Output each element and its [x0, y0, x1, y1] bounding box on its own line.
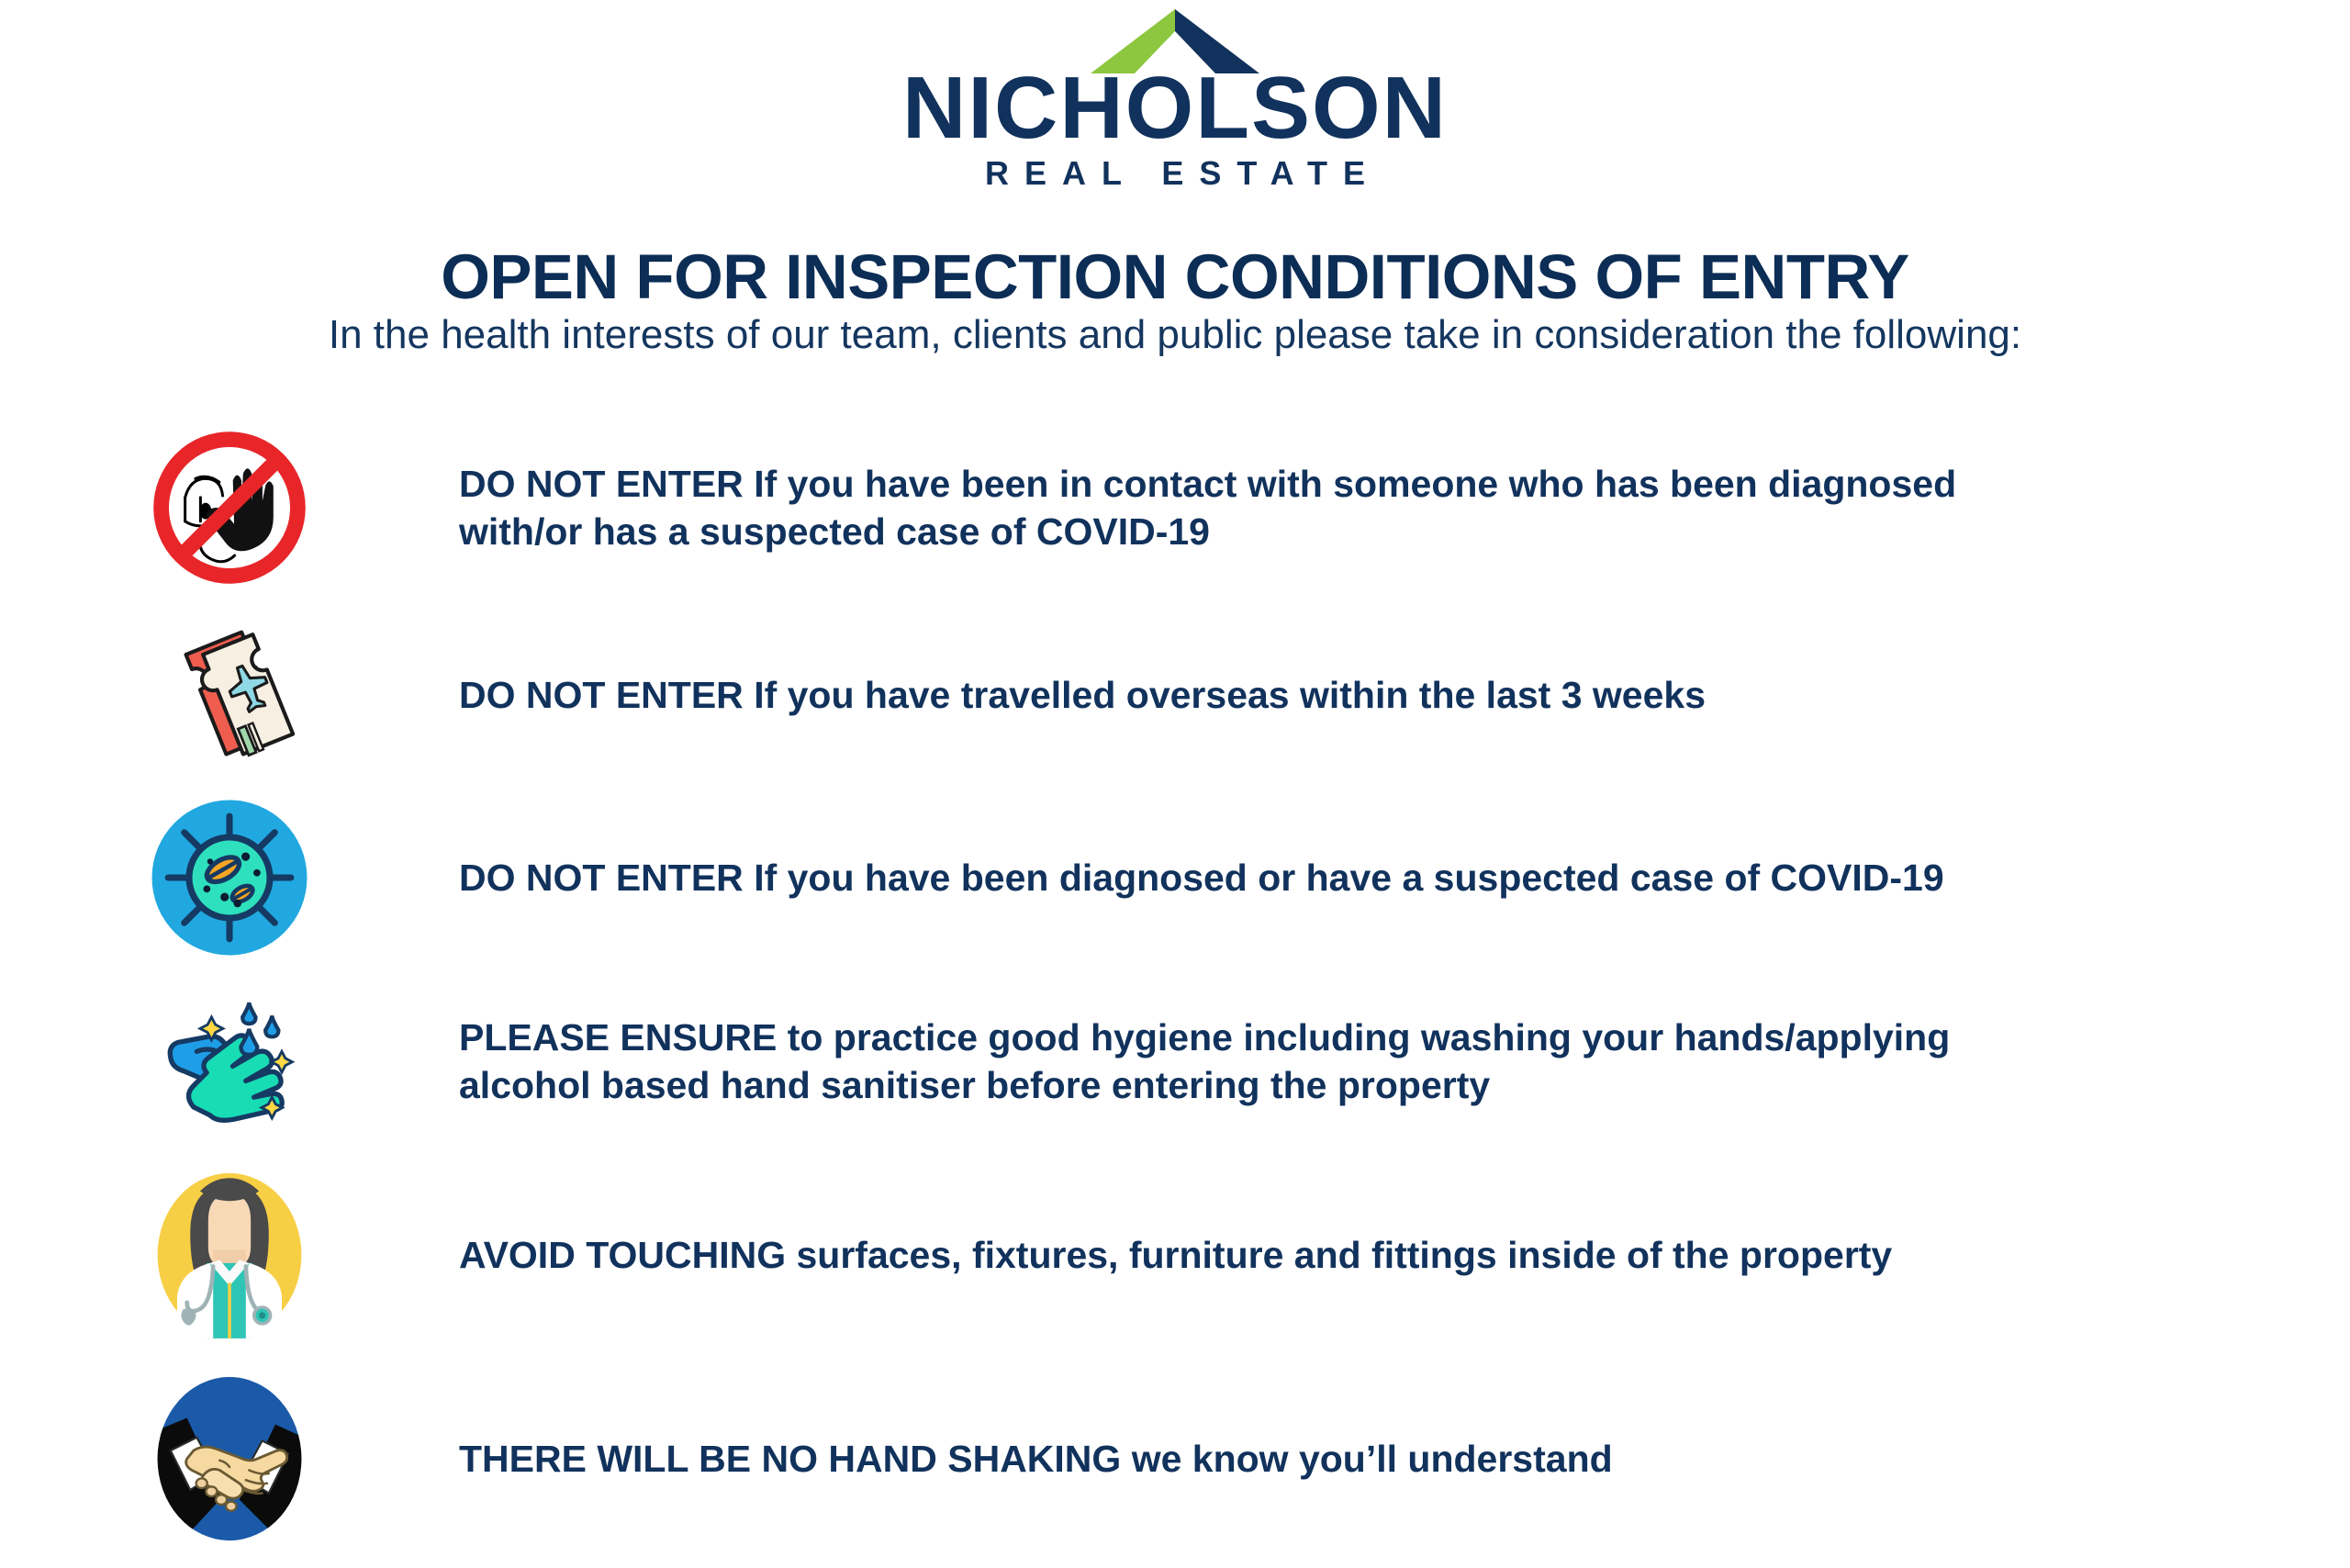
condition-row: DO NOT ENTER If you have travelled overs… — [0, 604, 2350, 786]
condition-icon-cell — [0, 969, 459, 1153]
condition-row: DO NOT ENTER If you have been in contact… — [0, 411, 2350, 604]
condition-text: DO NOT ENTER If you have been in contact… — [459, 460, 2001, 556]
brand-name: NICHOLSON — [902, 68, 1448, 149]
condition-icon-cell — [0, 1153, 459, 1357]
condition-icon-cell — [0, 1357, 459, 1561]
condition-row: THERE WILL BE NO HAND SHAKING we know yo… — [0, 1357, 2350, 1561]
condition-lead: DO NOT ENTER — [459, 857, 744, 899]
condition-row: AVOID TOUCHING surfaces, fixtures, furni… — [0, 1153, 2350, 1357]
poster-page: NICHOLSON REAL ESTATE OPEN FOR INSPECTIO… — [0, 0, 2350, 1568]
condition-text: PLEASE ENSURE to practice good hygiene i… — [459, 1014, 2001, 1110]
page-title: OPEN FOR INSPECTION CONDITIONS OF ENTRY — [0, 241, 2350, 313]
no-entry-hand-icon — [144, 422, 315, 593]
airline-tickets-icon — [151, 616, 308, 774]
conditions-list: DO NOT ENTER If you have been in contact… — [0, 411, 2350, 1561]
page-subtitle: In the health interests of our team, cli… — [0, 312, 2350, 358]
condition-rest: surfaces, fixtures, furniture and fittin… — [786, 1234, 1892, 1276]
virus-icon — [149, 797, 310, 958]
doctor-icon — [147, 1165, 312, 1345]
condition-text: AVOID TOUCHING surfaces, fixtures, furni… — [459, 1231, 1892, 1279]
condition-lead: PLEASE ENSURE — [459, 1016, 777, 1058]
condition-icon-cell — [0, 786, 459, 969]
condition-text: DO NOT ENTER If you have travelled overs… — [459, 671, 1706, 719]
condition-icon-cell — [0, 411, 459, 604]
hand-washing-icon — [148, 980, 311, 1143]
condition-rest: If you have been diagnosed or have a sus… — [744, 857, 1944, 899]
handshake-icon — [147, 1369, 312, 1549]
brand-logo: NICHOLSON REAL ESTATE — [0, 7, 2350, 193]
condition-rest: If you have travelled overseas within th… — [744, 674, 1706, 716]
condition-lead: THERE WILL BE NO HAND SHAKING — [459, 1438, 1121, 1480]
condition-rest: we know you’ll understand — [1121, 1438, 1612, 1480]
condition-row: PLEASE ENSURE to practice good hygiene i… — [0, 969, 2350, 1153]
brand-tagline: REAL ESTATE — [969, 154, 1381, 193]
condition-text: THERE WILL BE NO HAND SHAKING we know yo… — [459, 1435, 1613, 1483]
condition-lead: DO NOT ENTER — [459, 674, 744, 716]
condition-text: DO NOT ENTER If you have been diagnosed … — [459, 854, 1944, 902]
condition-icon-cell — [0, 604, 459, 786]
condition-lead: AVOID TOUCHING — [459, 1234, 786, 1276]
condition-lead: DO NOT ENTER — [459, 463, 744, 505]
condition-row: DO NOT ENTER If you have been diagnosed … — [0, 786, 2350, 969]
